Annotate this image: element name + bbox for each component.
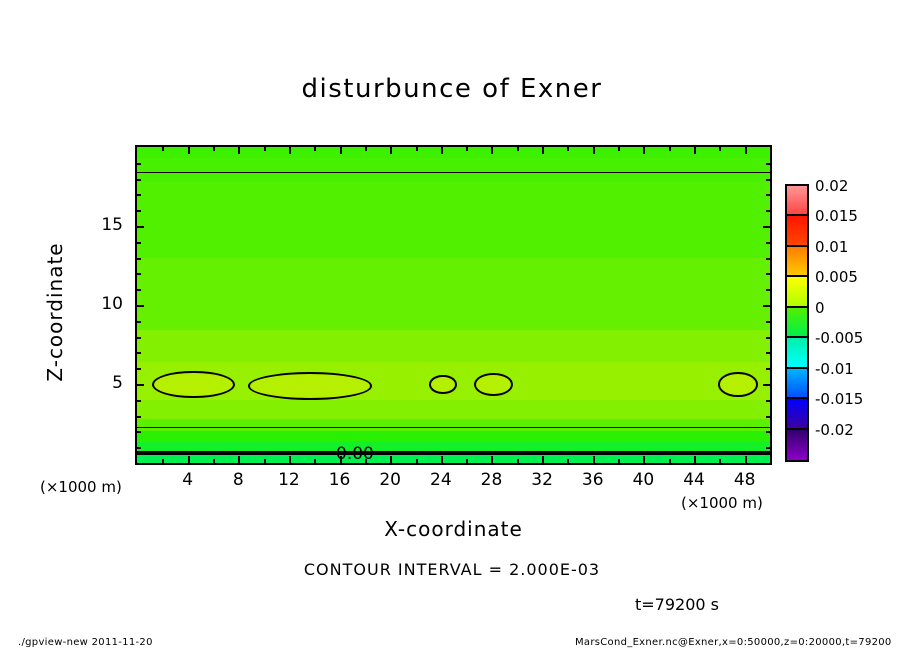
contour-band — [137, 158, 770, 182]
x-tick-label: 4 — [168, 470, 208, 490]
axis-tick — [719, 459, 721, 463]
contour-blob — [718, 372, 757, 397]
axis-tick — [314, 459, 316, 463]
contour-band — [137, 419, 770, 432]
colorbar-tick-label: -0.005 — [815, 329, 863, 347]
x-tick-label: 44 — [674, 470, 714, 490]
axis-tick — [491, 147, 493, 154]
axis-tick — [745, 456, 747, 463]
axis-tick — [390, 456, 392, 463]
axis-tick — [542, 456, 544, 463]
axis-tick — [669, 147, 671, 151]
x-tick-label: 24 — [421, 470, 461, 490]
axis-tick — [466, 147, 468, 151]
axis-tick — [137, 194, 141, 196]
axis-tick — [137, 368, 141, 370]
colorbar-segment — [787, 277, 807, 307]
axis-tick — [766, 163, 770, 165]
contour-band — [137, 400, 770, 420]
axis-tick — [766, 352, 770, 354]
axis-tick — [137, 447, 141, 449]
axis-tick — [766, 273, 770, 275]
axis-tick — [643, 147, 645, 154]
axis-tick — [162, 147, 164, 151]
axis-tick — [137, 226, 144, 228]
axis-tick — [264, 459, 266, 463]
colorbar-segment — [787, 399, 807, 429]
axis-tick — [766, 368, 770, 370]
axis-tick — [137, 352, 141, 354]
axis-tick — [213, 459, 215, 463]
axis-tick — [416, 459, 418, 463]
axis-tick — [593, 147, 595, 154]
x-tick-label: 12 — [269, 470, 309, 490]
axis-tick — [766, 179, 770, 181]
page-title: disturbunce of Exner — [0, 74, 904, 104]
footer-command-label: ./gpview-new 2011-11-20 — [18, 637, 153, 648]
z-axis-unit-label: (×1000 m) — [40, 478, 122, 496]
footer-dataset-label: MarsCond_Exner.nc@Exner,x=0:50000,z=0:20… — [575, 637, 892, 648]
colorbar-tick-label: 0.005 — [815, 268, 858, 286]
colorbar-tick-label: 0.015 — [815, 207, 858, 225]
colorbar-tick-label: 0.01 — [815, 238, 848, 256]
y-tick-label: 5 — [83, 373, 123, 393]
x-tick-label: 20 — [370, 470, 410, 490]
axis-tick — [365, 147, 367, 151]
axis-tick — [137, 400, 141, 402]
axis-tick — [137, 179, 141, 181]
contour-blob — [248, 372, 372, 400]
contour-blob — [474, 373, 512, 396]
contour-band — [137, 431, 770, 443]
x-tick-label: 8 — [218, 470, 258, 490]
axis-tick — [137, 273, 141, 275]
axis-tick — [289, 147, 291, 154]
axis-tick — [137, 337, 141, 339]
axis-tick — [137, 210, 141, 212]
axis-tick — [137, 289, 141, 291]
axis-tick — [719, 147, 721, 151]
axis-tick — [542, 147, 544, 154]
colorbar-tick-label: -0.01 — [815, 360, 854, 378]
contour-band — [137, 330, 770, 362]
axis-tick — [763, 226, 770, 228]
axis-tick — [766, 431, 770, 433]
x-tick-label: 28 — [471, 470, 511, 490]
x-tick-label: 36 — [573, 470, 613, 490]
axis-tick — [517, 147, 519, 151]
axis-tick — [137, 321, 141, 323]
x-tick-label: 16 — [320, 470, 360, 490]
axis-tick — [517, 459, 519, 463]
axis-tick — [213, 147, 215, 151]
contour-line — [137, 172, 770, 173]
axis-tick — [766, 337, 770, 339]
axis-tick — [669, 459, 671, 463]
axis-tick — [264, 147, 266, 151]
contour-line — [137, 427, 770, 428]
axis-tick — [188, 456, 190, 463]
x-axis-unit-label: (×1000 m) — [681, 494, 763, 512]
contour-line — [137, 451, 770, 455]
colorbar-tick-label: -0.015 — [815, 390, 863, 408]
axis-tick — [137, 416, 141, 418]
axis-tick — [593, 456, 595, 463]
colorbar-segment — [787, 247, 807, 277]
axis-tick — [441, 456, 443, 463]
contour-blob — [152, 371, 234, 399]
axis-tick — [137, 384, 144, 386]
contour-label-000: 0.00 — [336, 444, 374, 464]
axis-tick — [567, 147, 569, 151]
axis-tick — [766, 400, 770, 402]
y-axis-title: Z-coordinate — [43, 212, 67, 412]
filled-contour-bands — [137, 147, 770, 463]
colorbar-segment — [787, 338, 807, 368]
axis-tick — [491, 456, 493, 463]
contour-band — [137, 258, 770, 331]
axis-tick — [766, 258, 770, 260]
axis-tick — [238, 147, 240, 154]
contour-band — [137, 147, 770, 159]
contour-interval-note: CONTOUR INTERVAL = 2.000E-03 — [0, 560, 904, 579]
colorbar-tick-label: -0.02 — [815, 421, 854, 439]
x-axis-title: X-coordinate — [135, 517, 772, 541]
colorbar-segment — [787, 430, 807, 460]
x-tick-label: 48 — [725, 470, 765, 490]
axis-tick — [567, 459, 569, 463]
axis-tick — [188, 147, 190, 154]
axis-tick — [643, 456, 645, 463]
contour-band — [137, 182, 770, 258]
axis-tick — [466, 459, 468, 463]
axis-tick — [137, 431, 141, 433]
axis-tick — [137, 258, 141, 260]
axis-tick — [162, 459, 164, 463]
axis-tick — [441, 147, 443, 154]
colorbar[interactable] — [785, 184, 809, 462]
axis-tick — [238, 456, 240, 463]
contour-blob — [429, 375, 457, 395]
colorbar-segment — [787, 369, 807, 399]
axis-tick — [694, 147, 696, 154]
time-stamp-label: t=79200 s — [635, 595, 719, 614]
x-tick-label: 32 — [522, 470, 562, 490]
colorbar-segment — [787, 308, 807, 338]
axis-tick — [289, 456, 291, 463]
axis-tick — [694, 456, 696, 463]
axis-tick — [745, 147, 747, 154]
axis-tick — [766, 210, 770, 212]
colorbar-tick-label: 0.02 — [815, 177, 848, 195]
colorbar-segment — [787, 216, 807, 246]
axis-tick — [766, 242, 770, 244]
axis-tick — [763, 305, 770, 307]
axis-tick — [618, 459, 620, 463]
colorbar-tick-label: 0 — [815, 299, 825, 317]
y-tick-label: 10 — [83, 294, 123, 314]
axis-tick — [314, 147, 316, 151]
axis-tick — [766, 416, 770, 418]
contour-plot-area[interactable]: 0.004 0.00 — [135, 145, 772, 465]
axis-tick — [416, 147, 418, 151]
colorbar-segment — [787, 186, 807, 216]
axis-tick — [340, 147, 342, 154]
axis-tick — [763, 384, 770, 386]
axis-tick — [766, 289, 770, 291]
axis-tick — [766, 447, 770, 449]
axis-tick — [137, 242, 141, 244]
axis-tick — [390, 147, 392, 154]
axis-tick — [618, 147, 620, 151]
axis-tick — [137, 305, 144, 307]
axis-tick — [137, 163, 141, 165]
y-tick-label: 15 — [83, 215, 123, 235]
axis-tick — [766, 194, 770, 196]
axis-tick — [766, 321, 770, 323]
x-tick-label: 40 — [623, 470, 663, 490]
